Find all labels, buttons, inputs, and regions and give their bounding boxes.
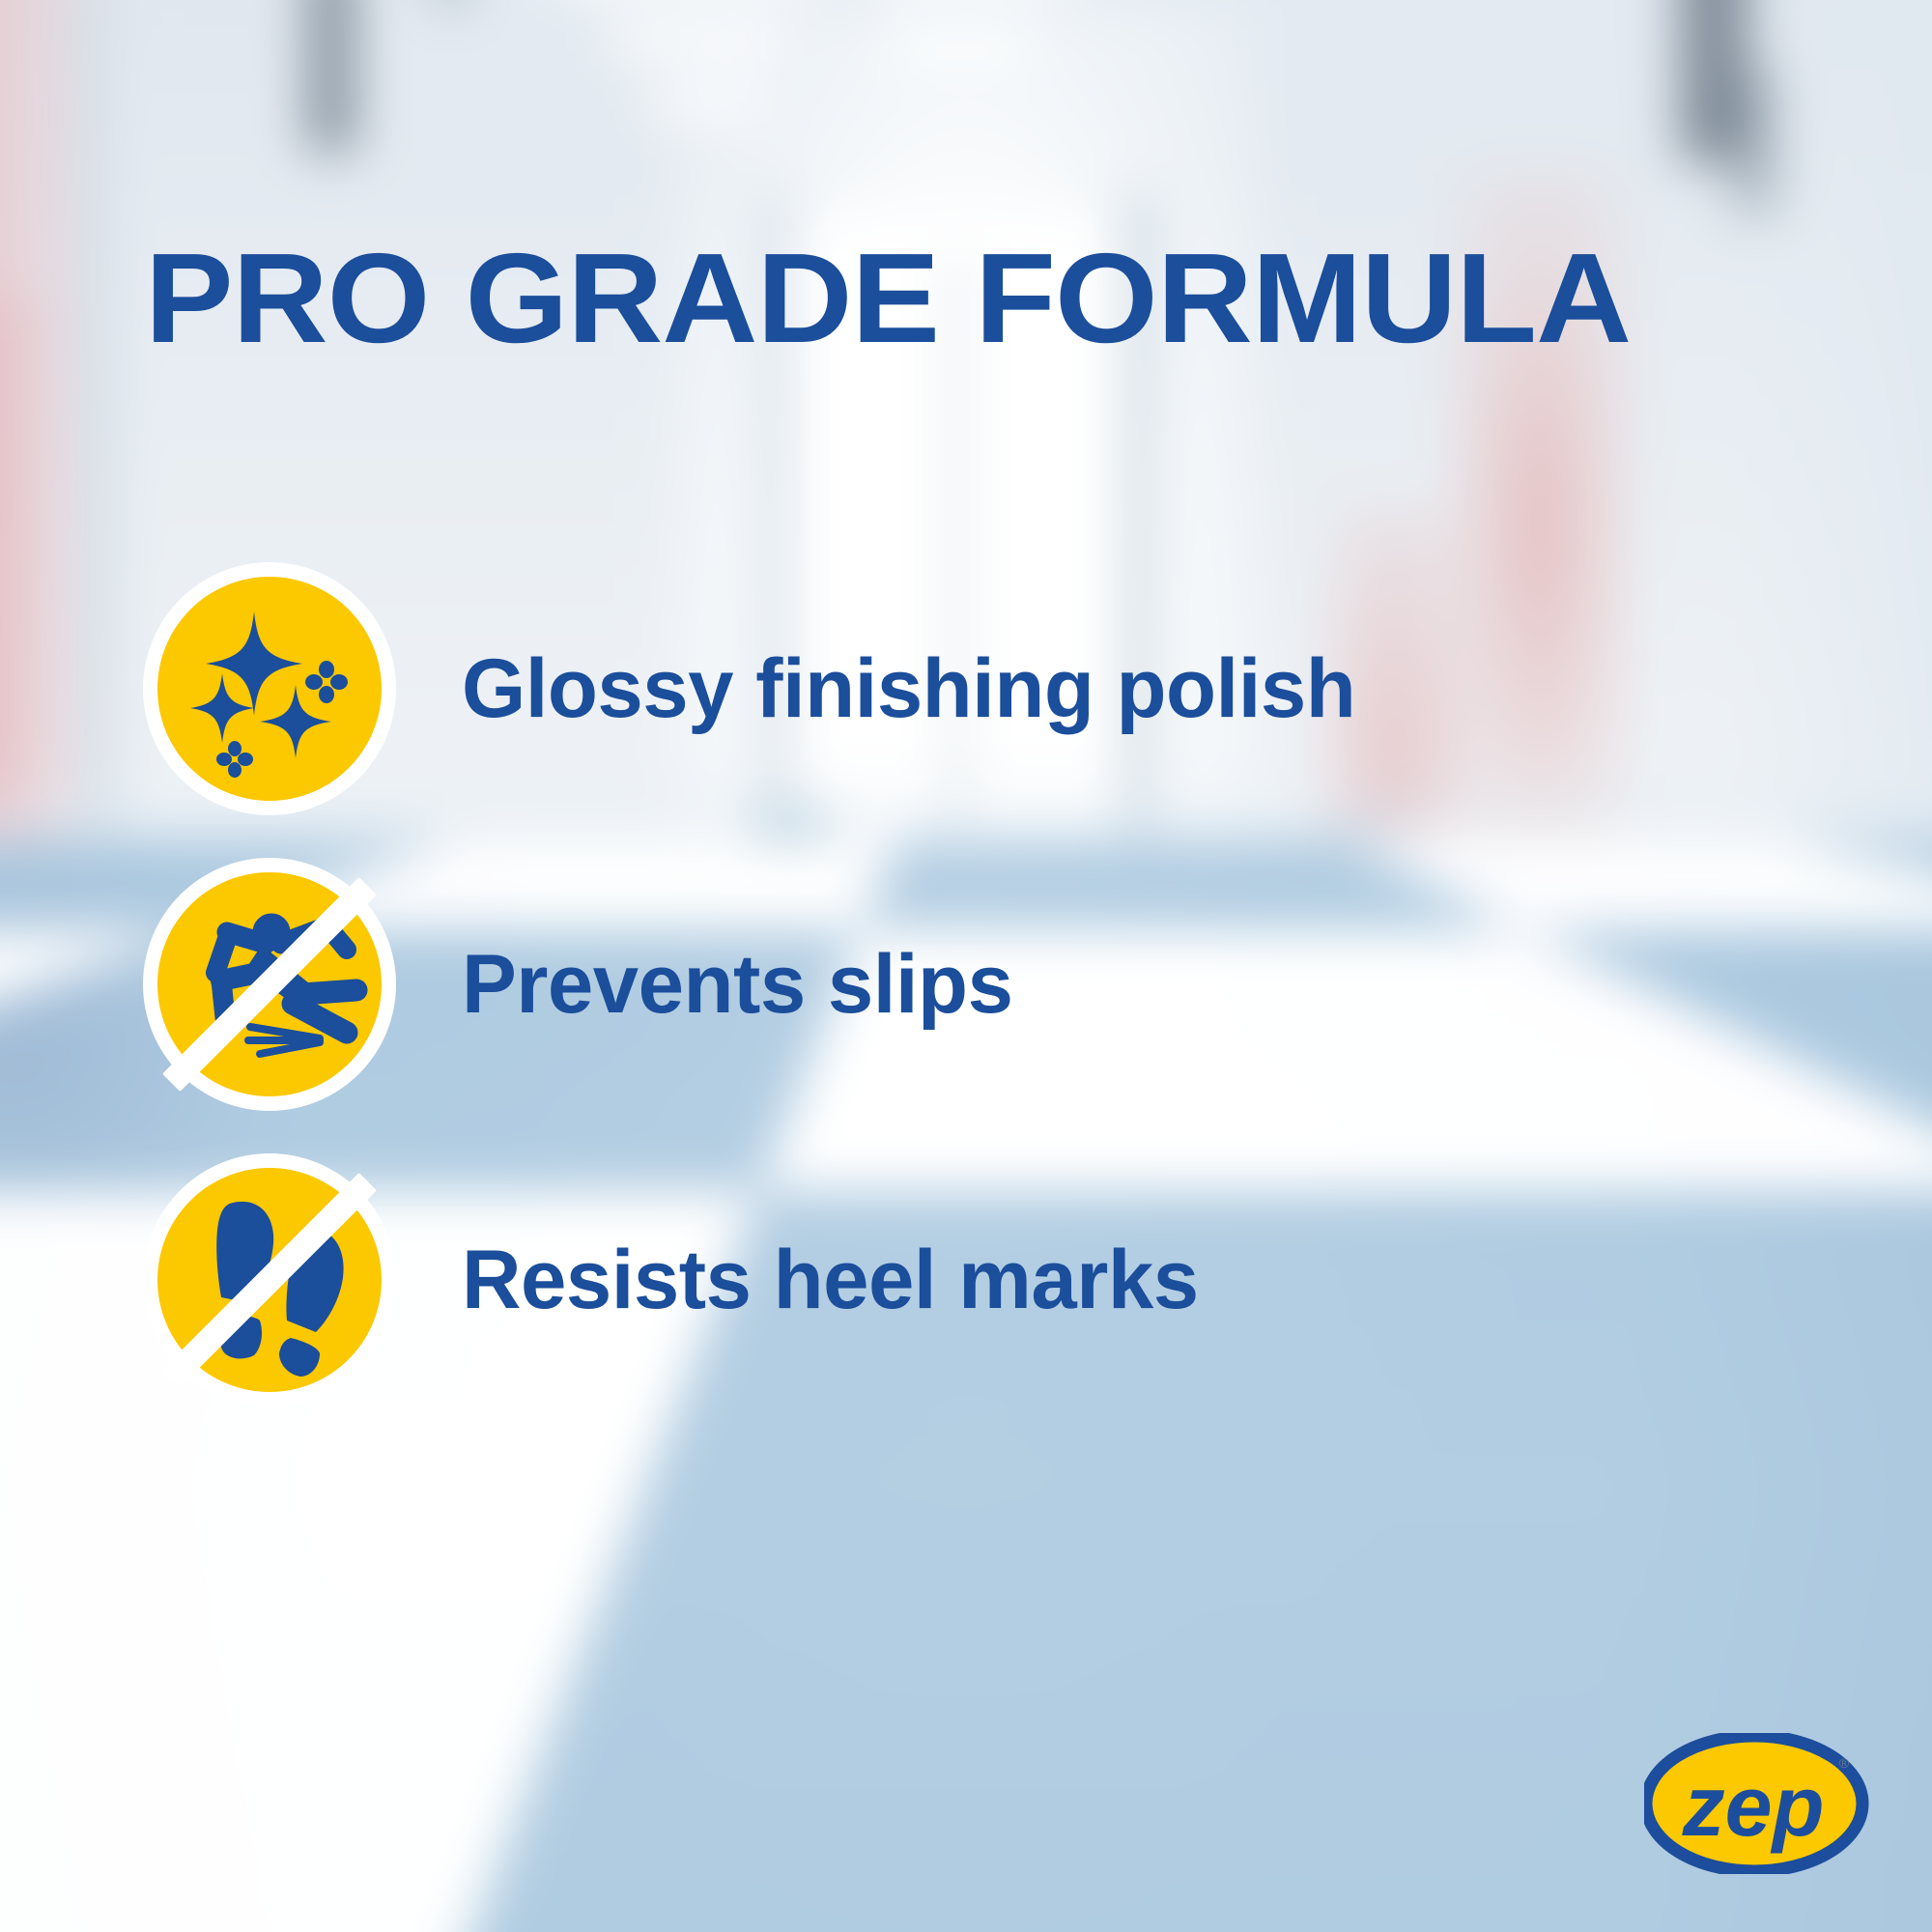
sparkles-icon (157, 577, 382, 801)
feature-list: Glossy finishing polish (0, 541, 1932, 1428)
promo-graphic: PRO GRADE FORMULA (0, 0, 1932, 1932)
feature-icon-badge (143, 562, 396, 815)
feature-icon-badge (143, 858, 396, 1111)
list-item: Resists heel marks (0, 1132, 1932, 1428)
overlay-content: PRO GRADE FORMULA (0, 0, 1932, 1932)
feature-label: Resists heel marks (462, 1233, 1199, 1328)
feature-label: Prevents slips (462, 937, 1012, 1033)
logo-wordmark: zep (1682, 1758, 1825, 1854)
page-title: PRO GRADE FORMULA (145, 235, 1913, 362)
icon-yellow-disc (157, 577, 382, 801)
trademark-symbol: ® (1839, 1755, 1850, 1771)
list-item: Prevents slips (0, 837, 1932, 1132)
list-item: Glossy finishing polish (0, 541, 1932, 837)
zep-logo: zep ® (1644, 1733, 1872, 1874)
feature-icon-badge (143, 1153, 396, 1406)
feature-label: Glossy finishing polish (462, 641, 1355, 737)
